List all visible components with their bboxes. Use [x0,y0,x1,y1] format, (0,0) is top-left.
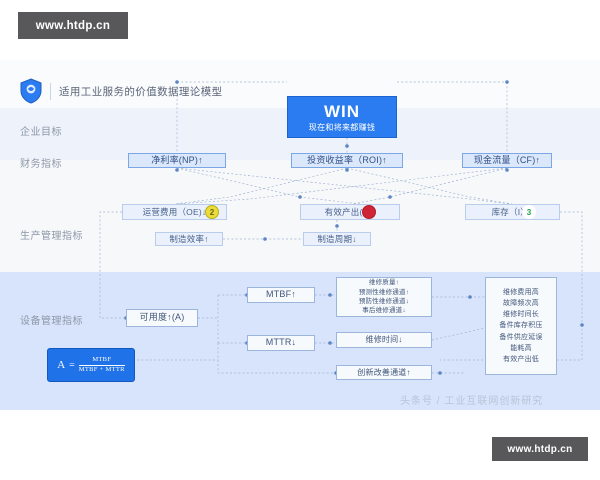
watermark-top: www.htdp.cn [18,12,128,39]
formula-lhs: A [57,359,65,371]
pain-point-7: 有效产出低 [503,354,539,365]
sidebar-item-production: 生产管理指标 [20,227,83,242]
watermark-bottom: www.htdp.cn [492,437,588,461]
equipment-node-repair-time: 维修时间↓ [336,332,432,348]
formula-fraction: MTBF MTBF + MTTR [79,357,125,374]
pain-point-1: 维修费用高 [503,287,539,298]
pain-point-2: 故障频次高 [503,298,539,309]
production-node-throughput: 有效产出(T)↑ [300,204,400,220]
sidebar-item-equipment: 设备管理指标 [20,312,83,327]
page-title: 适用工业服务的价值数据理论模型 [59,84,223,99]
sidebar-item-financial: 财务指标 [20,155,62,170]
quality-line-4: 事后维修通道↓ [362,306,406,315]
goal-title: WIN [324,101,360,122]
diagram-page: www.htdp.cn [0,0,600,480]
availability-formula: A = MTBF MTBF + MTTR [47,348,135,382]
formula-denominator: MTBF + MTTR [79,366,125,374]
badge-oe-2: 2 [205,205,219,219]
goal-win-box: WIN 现在和将来都赚钱 [287,96,397,138]
equipment-node-innovation: 创新改善通道↑ [336,365,432,380]
financial-node-roi: 投资收益率（ROI)↑ [291,153,403,168]
sidebar-item-enterprise-goal: 企业目标 [20,123,62,138]
pain-point-3: 维修时间长 [503,309,539,320]
header-divider [50,83,51,100]
quality-line-3: 预防性维修通道↓ [359,297,409,306]
badge-throughput-1: 1 [362,205,376,219]
equipment-node-mtbf: MTBF↑ [247,287,315,303]
quality-line-2: 预测性维修通道↑ [359,288,409,297]
pain-point-4: 备件库存积压 [499,320,542,331]
badge-inventory-3: 3 [522,205,536,219]
pain-point-5: 备件供应延误 [499,332,542,343]
watermark-inner: 头条号 / 工业互联网创新研究 [400,392,543,407]
diagram-canvas: 适用工业服务的价值数据理论模型 企业目标 财务指标 生产管理指标 设备管理指标 … [0,60,600,410]
header: 适用工业服务的价值数据理论模型 [20,78,223,104]
equipment-node-maintenance-quality: 维修质量↑ 预测性维修通道↑ 预防性维修通道↓ 事后维修通道↓ [336,277,432,317]
equipment-node-mttr: MTTR↓ [247,335,315,351]
goal-subtitle: 现在和将来都赚钱 [309,123,375,133]
formula-equals: = [69,360,75,371]
production-sub-efficiency: 制造效率↑ [155,232,223,246]
production-sub-cycle: 制造周期↓ [303,232,371,246]
production-node-inventory: 库存（I）↓ [465,204,560,220]
equipment-node-pain-points: 维修费用高 故障频次高 维修时间长 备件库存积压 备件供应延误 能耗高 有效产出… [485,277,557,375]
formula-numerator: MTBF [92,357,111,365]
financial-node-cf: 现金流量（CF)↑ [462,153,552,168]
pain-point-6: 能耗高 [510,343,532,354]
financial-node-np: 净利率(NP)↑ [128,153,226,168]
equipment-node-availability: 可用度↑(A) [126,309,198,327]
quality-line-1: 维修质量↑ [369,278,399,287]
shield-icon [20,78,42,104]
